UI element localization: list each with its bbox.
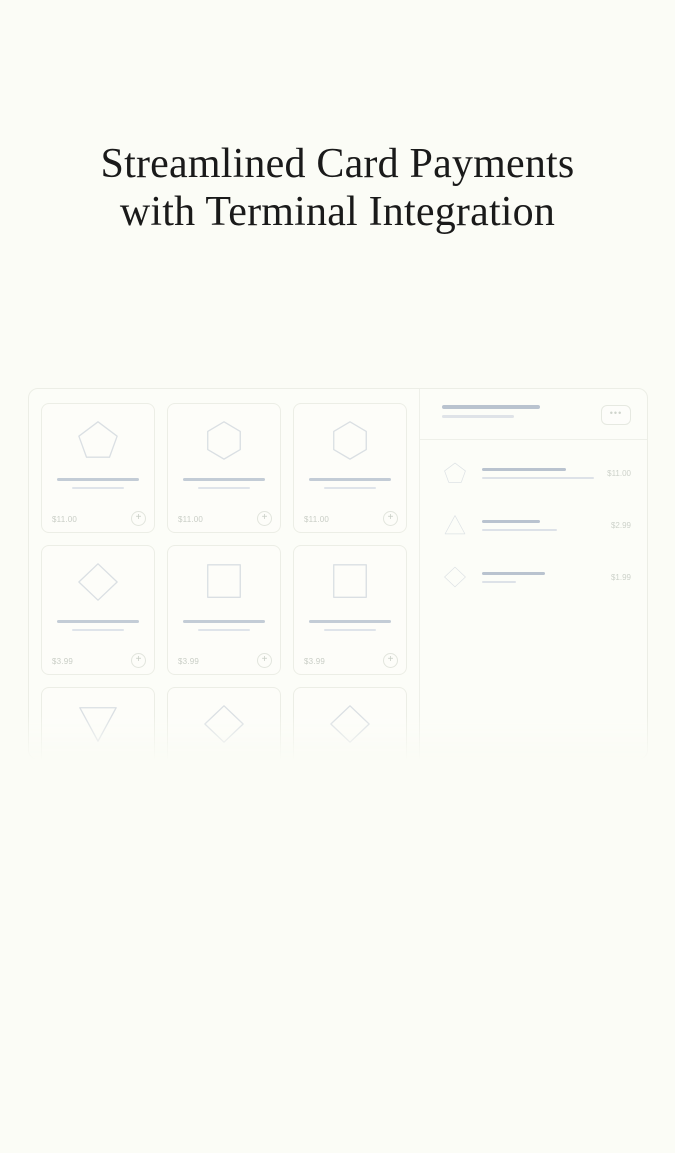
keypad-key-9[interactable]: 9WXYZ — [282, 1045, 329, 1071]
product-name-bar — [57, 620, 140, 623]
product-desc-bar — [198, 487, 249, 489]
order-title-bar — [442, 405, 540, 409]
card-chip-icon — [256, 864, 267, 876]
product-price: $3.99 — [52, 657, 73, 666]
order-row[interactable]: $1.99 — [442, 558, 631, 596]
order-item-placeholder — [482, 468, 599, 479]
pos-app-window: $11.00+$11.00+$11.00+$3.99+$3.99+$3.99+$… — [28, 388, 648, 760]
key-letters: ♪ — [206, 1083, 209, 1089]
product-name-bar — [309, 620, 392, 623]
order-item-price: $11.00 — [607, 469, 631, 478]
product-desc-bar — [198, 629, 249, 631]
pentagon-icon — [74, 418, 122, 462]
pentagon-icon — [442, 461, 468, 485]
product-name-bar — [309, 478, 392, 481]
product-desc-bar — [324, 487, 375, 489]
product-price: $3.99 — [304, 657, 325, 666]
credit-card-graphic — [230, 854, 276, 924]
card-slot — [211, 842, 295, 854]
diamond-icon — [200, 702, 248, 746]
keypad-key-5[interactable]: 5JKL — [229, 1014, 276, 1040]
key-letters: .@ — [201, 990, 208, 996]
google-pay-logo: G Pay — [236, 950, 265, 962]
key-digit: 6 — [295, 1021, 302, 1034]
page-title-line-1: Streamlined Card Payments — [101, 141, 575, 187]
order-panel: ••• $11.00$2.99$1.99 — [419, 389, 647, 759]
terminal-keypad: 1.@2ABC3DEF4GHI5JKL6MNO7PQRS8TUV9WXYZ★♪0… — [177, 983, 329, 1102]
product-name-placeholder — [309, 620, 392, 631]
order-menu-button[interactable]: ••• — [601, 405, 631, 425]
key-digit: 0 — [245, 1083, 252, 1096]
add-to-cart-button[interactable]: + — [131, 511, 146, 526]
back-key[interactable]: ‹ — [229, 1107, 276, 1129]
diamond-icon — [326, 702, 374, 746]
product-price: $11.00 — [304, 515, 329, 524]
keypad-key-8[interactable]: 8TUV — [229, 1045, 276, 1071]
page-title: Streamlined Card Payments with Terminal … — [0, 140, 675, 237]
keypad-key-★[interactable]: ★♪ — [177, 1076, 224, 1102]
key-digit: 7 — [189, 1052, 196, 1065]
add-to-cart-button[interactable]: + — [257, 653, 272, 668]
key-letters: JKL — [252, 1021, 262, 1027]
order-item-placeholder — [482, 572, 603, 583]
diamond-icon — [442, 565, 468, 589]
key-letters: MNO — [303, 1021, 315, 1027]
product-card[interactable]: $11.00+ — [41, 403, 155, 533]
add-to-cart-button[interactable]: + — [131, 653, 146, 668]
apple-pay-logo:  Pay — [276, 950, 304, 961]
keypad-key-3[interactable]: 3DEF — [282, 983, 329, 1009]
product-price: $3.99 — [178, 657, 199, 666]
order-rows: $11.00$2.99$1.99 — [420, 440, 647, 610]
key-letters: PQRS — [197, 1052, 212, 1058]
card-terminal-device: G Pay  Pay 1.@2ABC3DEF4GHI5JKL6MNO7PQRS… — [159, 815, 347, 1153]
key-digit: 4 — [192, 1021, 199, 1034]
contactless-icon — [203, 947, 225, 964]
add-to-cart-button[interactable]: + — [383, 653, 398, 668]
keypad-key-2[interactable]: 2ABC — [229, 983, 276, 1009]
key-digit: 2 — [243, 990, 250, 1003]
keypad-key-#[interactable]: # — [282, 1076, 329, 1102]
keypad-key-7[interactable]: 7PQRS — [177, 1045, 224, 1071]
order-item-placeholder — [482, 520, 603, 531]
terminal-body: G Pay  Pay 1.@2ABC3DEF4GHI5JKL6MNO7PQRS… — [168, 824, 338, 1144]
square-icon — [200, 560, 248, 604]
product-card[interactable]: $3.99+ — [41, 545, 155, 675]
key-letters: WXYZ — [302, 1052, 317, 1058]
product-grid: $11.00+$11.00+$11.00+$3.99+$3.99+$3.99+$… — [29, 389, 419, 759]
product-name-placeholder — [57, 620, 140, 631]
key-letters: TUV — [252, 1052, 263, 1058]
terminal-action-keys: ✕‹○ — [177, 1107, 329, 1129]
order-row[interactable]: $2.99 — [442, 506, 631, 544]
order-row[interactable]: $11.00 — [442, 454, 631, 492]
product-name-placeholder — [309, 478, 392, 489]
product-name-bar — [57, 478, 140, 481]
product-card[interactable]: $3.99+ — [167, 687, 281, 760]
product-card[interactable]: $3.99+ — [167, 545, 281, 675]
key-digit: 8 — [244, 1052, 251, 1065]
confirm-key[interactable]: ○ — [282, 1107, 329, 1129]
product-desc-bar — [72, 487, 123, 489]
product-desc-bar — [324, 629, 375, 631]
product-name-bar — [183, 478, 266, 481]
key-letters: DEF — [304, 990, 315, 996]
hexagon-icon — [326, 418, 374, 462]
add-to-cart-button[interactable]: + — [257, 511, 272, 526]
product-card[interactable]: $3.99+ — [293, 687, 407, 760]
key-digit: ★ — [193, 1083, 205, 1096]
key-digit: 1 — [193, 990, 200, 1003]
triangle-down-icon — [74, 702, 122, 746]
keypad-key-6[interactable]: 6MNO — [282, 1014, 329, 1040]
accepted-payment-methods: G Pay  Pay — [177, 947, 329, 964]
product-name-placeholder — [57, 478, 140, 489]
keypad-key-1[interactable]: 1.@ — [177, 983, 224, 1009]
product-price: $11.00 — [178, 515, 203, 524]
order-subtitle-bar — [442, 415, 514, 418]
key-digit: 3 — [296, 990, 303, 1003]
key-letters: SP — [254, 1083, 261, 1089]
key-digit: # — [301, 1083, 308, 1096]
product-desc-bar — [72, 629, 123, 631]
product-name-placeholder — [183, 478, 266, 489]
product-name-bar — [183, 620, 266, 623]
square-icon — [326, 560, 374, 604]
hexagon-icon — [200, 418, 248, 462]
triangle-icon — [442, 513, 468, 537]
product-name-placeholder — [183, 620, 266, 631]
order-panel-header: ••• — [420, 389, 647, 440]
product-card[interactable]: $3.99+ — [41, 687, 155, 760]
product-card[interactable]: $11.00+ — [167, 403, 281, 533]
diamond-icon — [74, 560, 122, 604]
product-card[interactable]: $11.00+ — [293, 403, 407, 533]
product-card[interactable]: $3.99+ — [293, 545, 407, 675]
key-digit: 9 — [294, 1052, 301, 1065]
insert-arrow-icon — [247, 843, 259, 851]
cancel-key[interactable]: ✕ — [177, 1107, 224, 1129]
terminal-screen: G Pay  Pay — [177, 832, 329, 976]
order-item-price: $2.99 — [611, 521, 631, 530]
keypad-key-4[interactable]: 4GHI — [177, 1014, 224, 1040]
product-price: $11.00 — [52, 515, 77, 524]
add-to-cart-button[interactable]: + — [383, 511, 398, 526]
order-title-placeholder — [442, 405, 540, 418]
order-item-price: $1.99 — [611, 573, 631, 582]
keypad-key-0[interactable]: 0SP — [229, 1076, 276, 1102]
page-title-line-2: with Terminal Integration — [0, 188, 675, 236]
key-digit: 5 — [244, 1021, 251, 1034]
apple-logo-icon:  — [276, 950, 284, 961]
key-letters: ABC — [251, 990, 262, 996]
key-letters: GHI — [200, 1021, 210, 1027]
pos-illustration: $11.00+$11.00+$11.00+$3.99+$3.99+$3.99+$… — [28, 388, 648, 760]
